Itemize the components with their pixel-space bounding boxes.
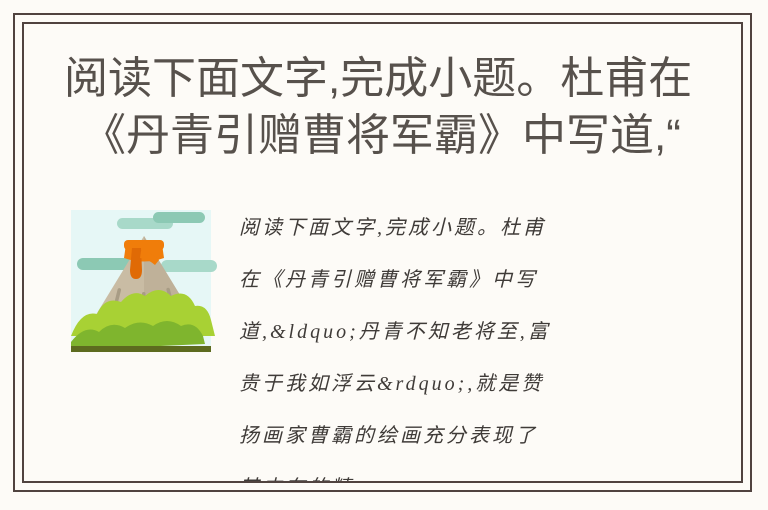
volcano-icon [69,210,219,360]
article-section: 阅读下面文字,完成小题。杜甫在《丹青引赠曹将军霸》中写道,&ldquo;丹青不知… [24,194,741,481]
framed-card-outer-border: 阅读下面文字,完成小题。杜甫在 《丹青引赠曹将军霸》中写道,“ [13,13,752,492]
framed-card-inner-border: 阅读下面文字,完成小题。杜甫在 《丹青引赠曹将军霸》中写道,“ [22,22,743,483]
page-title: 阅读下面文字,完成小题。杜甫在 《丹青引赠曹将军霸》中写道,“ [64,50,731,164]
page-title-line-1: 阅读下面文字,完成小题。杜甫在 [64,50,731,107]
article-body-text: 阅读下面文字,完成小题。杜甫在《丹青引赠曹将军霸》中写道,&ldquo;丹青不知… [239,202,559,481]
volcano-illustration [69,210,219,360]
page-title-line-2: 《丹青引赠曹将军霸》中写道,“ [64,107,731,164]
